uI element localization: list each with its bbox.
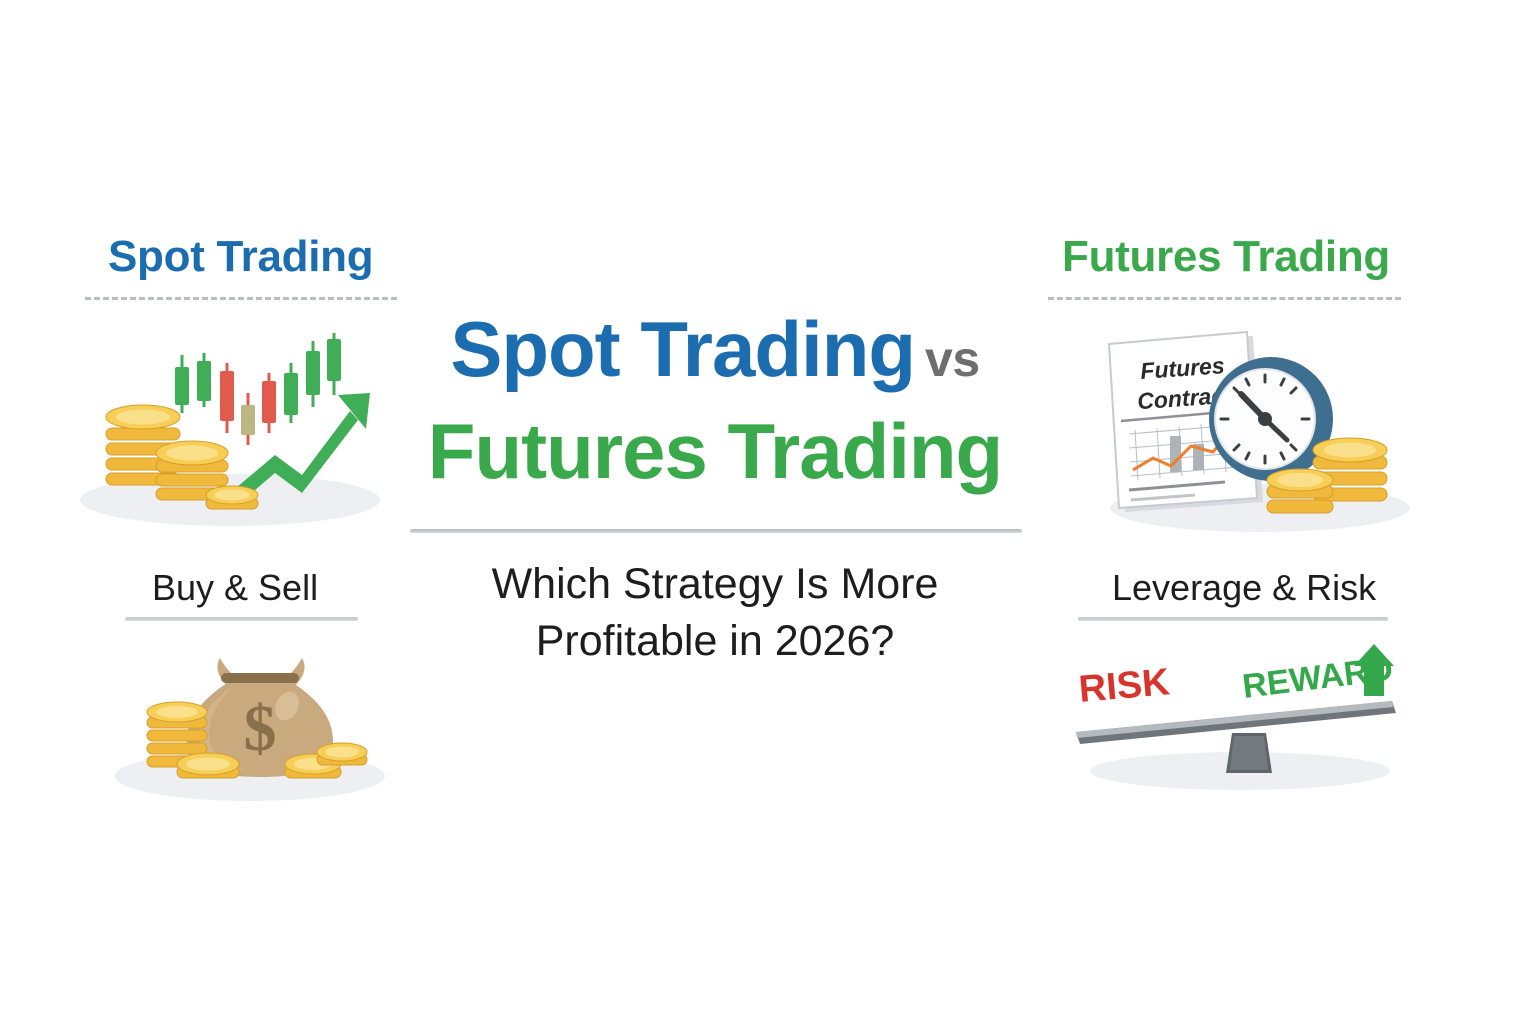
main-title-line-1: Spot Tradingvs xyxy=(408,310,1022,390)
coin-front-left xyxy=(177,753,239,778)
dollar-symbol: $ xyxy=(244,692,277,765)
coin-stack-small xyxy=(206,486,258,509)
risk-reward-seesaw-illustration: RISK REWARD xyxy=(1062,640,1422,800)
buy-and-sell-label: Buy & Sell xyxy=(152,567,318,609)
risk-label: RISK xyxy=(1077,661,1172,711)
coin-stack-front-right xyxy=(1267,469,1333,513)
main-title-line-2: Futures Trading xyxy=(408,412,1022,492)
spot-trading-column-heading: Spot Trading xyxy=(108,232,373,282)
futures-trading-column-heading: Futures Trading xyxy=(1062,232,1390,282)
coin-right-back xyxy=(317,743,367,765)
leverage-and-risk-divider xyxy=(1078,617,1388,621)
money-bag-illustration: $ xyxy=(105,628,395,808)
main-title-spot-trading: Spot Trading xyxy=(450,305,915,393)
futures-contract-clock-illustration: Futures Contract xyxy=(1075,322,1425,537)
futures-heading-dashed-divider xyxy=(1048,297,1401,300)
seesaw-fulcrum xyxy=(1226,733,1272,773)
spot-heading-dashed-divider xyxy=(85,297,397,300)
subtitle-line-1: Which Strategy Is More xyxy=(408,556,1022,613)
subtitle-block: Which Strategy Is More Profitable in 202… xyxy=(408,556,1022,670)
center-title-block: Spot Tradingvs Futures Trading xyxy=(408,310,1022,491)
buy-and-sell-divider xyxy=(125,617,358,621)
candlestick-series xyxy=(175,333,341,445)
center-title-divider xyxy=(410,529,1022,533)
main-title-vs: vs xyxy=(925,331,980,387)
infographic-canvas: Spot Trading xyxy=(0,0,1536,1024)
coins-candlestick-uptrend-illustration xyxy=(70,325,400,535)
leverage-and-risk-label: Leverage & Risk xyxy=(1112,567,1376,609)
subtitle-line-2: Profitable in 2026? xyxy=(408,613,1022,670)
